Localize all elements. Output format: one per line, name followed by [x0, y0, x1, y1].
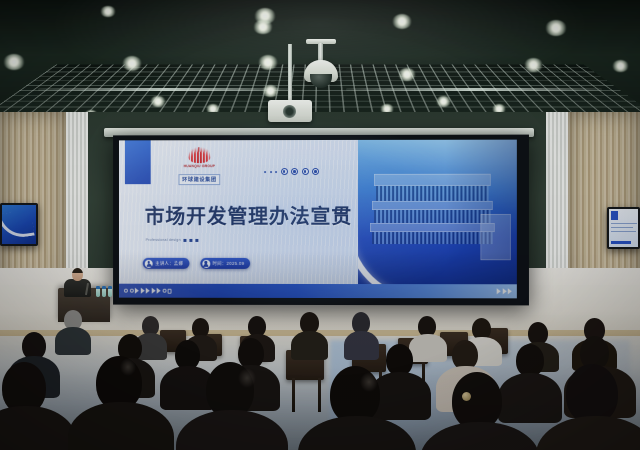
bottle: [108, 286, 112, 297]
person-shoulders: [291, 331, 328, 360]
chair-leg: [318, 378, 321, 412]
projector-pole: [288, 44, 292, 106]
slide-bottom-bar: [119, 284, 517, 299]
chevron-row: [124, 288, 172, 294]
ceiling-light: [253, 20, 273, 34]
camera-stem: [318, 43, 323, 61]
chevron-right-icon: [157, 288, 161, 294]
ring-dot-icon: [312, 168, 319, 175]
ceiling-light: [122, 56, 142, 71]
slide-subtitle-en: Professional design: [146, 238, 181, 242]
ceiling-beam: [346, 88, 602, 91]
ceiling-light: [524, 58, 543, 72]
square-bullet-icon: [184, 238, 187, 241]
monitor-doc-line: [611, 231, 636, 232]
side-monitor-left-panel: [2, 205, 36, 244]
ceiling-light: [262, 85, 279, 97]
chevron-right-icon: [502, 288, 506, 294]
chevron-right-icon: [140, 288, 144, 294]
conference-room-scene: HUANQIU GROUP 环球建设集团 市场开发管理办法宣贯 Professi…: [0, 0, 640, 450]
person-icon: [202, 259, 210, 267]
side-monitor-left: [0, 203, 38, 246]
ceiling-light: [392, 14, 412, 29]
ceiling-light: [3, 54, 25, 70]
circle-icon: [129, 289, 133, 293]
chevron-right-icon: [497, 288, 501, 294]
speaker-pill: 主讲人：孟娜: [143, 258, 189, 269]
bottle-cap: [108, 286, 112, 289]
ceiling-light: [100, 6, 116, 17]
chevron-right-icon: [146, 288, 150, 294]
monitor-doc-header: [611, 211, 618, 220]
person-head: [566, 364, 618, 424]
ceiling-light: [436, 96, 451, 107]
ceiling-light: [150, 96, 166, 107]
hair-sheen: [238, 368, 256, 388]
chevron-row-right: [497, 288, 512, 294]
side-monitor-right-panel: [609, 209, 638, 247]
slide-building-photo: [358, 140, 517, 299]
circle-icon: [162, 289, 166, 293]
subtitle-rule: [202, 240, 325, 241]
hair-sheen: [360, 372, 378, 392]
monitor-doc-bar: [611, 241, 631, 244]
monitor-doc-line: [611, 227, 633, 228]
person-shoulders: [409, 334, 447, 362]
chevron-right-icon: [508, 288, 512, 294]
square-icon: [168, 288, 172, 293]
mini-dot-icon: [270, 171, 272, 173]
ceiling-light: [258, 55, 278, 70]
slide-title: 市场开发管理办法宣贯: [145, 200, 352, 229]
person-shoulders: [55, 327, 91, 355]
chevron-right-icon: [135, 288, 139, 294]
bottle: [96, 286, 100, 297]
slide-subtitle-row: Professional design: [146, 238, 325, 242]
ceiling-beam: [38, 88, 294, 91]
ceiling-light: [612, 60, 629, 72]
photo-shading: [358, 140, 517, 299]
company-logo: HUANQIU GROUP 环球建设集团: [169, 144, 231, 185]
presenter-head: [72, 268, 83, 281]
chair-leg: [292, 378, 295, 412]
speaker-label: 主讲人：孟娜: [155, 260, 183, 266]
ceiling-projector: [268, 100, 312, 122]
projection-screen: HUANQIU GROUP 环球建设集团 市场开发管理办法宣贯 Professi…: [113, 135, 529, 306]
person-icon: [145, 259, 153, 267]
hair-sheen: [120, 358, 136, 376]
square-bullet-icon: [190, 238, 193, 241]
bottle-cap: [102, 286, 106, 289]
person-shoulders: [344, 331, 379, 360]
side-monitor-right: [607, 207, 640, 249]
monitor-doc-line: [611, 223, 637, 224]
ceiling-light: [398, 68, 416, 81]
date-pill: 时间：2025.09: [200, 258, 250, 269]
sunburst-logo-icon: [188, 144, 210, 163]
logo-subtext: HUANQIU GROUP: [169, 164, 231, 168]
water-bottles: [96, 286, 112, 297]
square-bullet-icon: [196, 238, 199, 241]
slide-nav-dots: [264, 168, 319, 175]
bottle-cap: [96, 286, 100, 289]
projector-lens-icon: [283, 105, 296, 118]
circle-icon: [124, 289, 128, 293]
ceiling-light: [545, 20, 567, 36]
date-label: 时间：2025.09: [212, 260, 244, 266]
chevron-right-icon: [151, 288, 155, 294]
slide-meta-pills: 主讲人：孟娜 时间：2025.09: [143, 258, 251, 269]
ring-dot-icon: [302, 168, 309, 175]
bottle: [102, 286, 106, 297]
person-shoulders: [498, 373, 562, 423]
presentation-slide: HUANQIU GROUP 环球建设集团 市场开发管理办法宣贯 Professi…: [119, 140, 517, 299]
mini-dot-icon: [264, 171, 266, 173]
ring-dot-icon: [281, 168, 288, 175]
ring-dot-icon: [291, 168, 298, 175]
mini-dot-icon: [275, 171, 277, 173]
slide-accent-block: [125, 140, 151, 184]
company-name-label: 环球建设集团: [178, 174, 220, 185]
hair-clip: [462, 392, 471, 401]
